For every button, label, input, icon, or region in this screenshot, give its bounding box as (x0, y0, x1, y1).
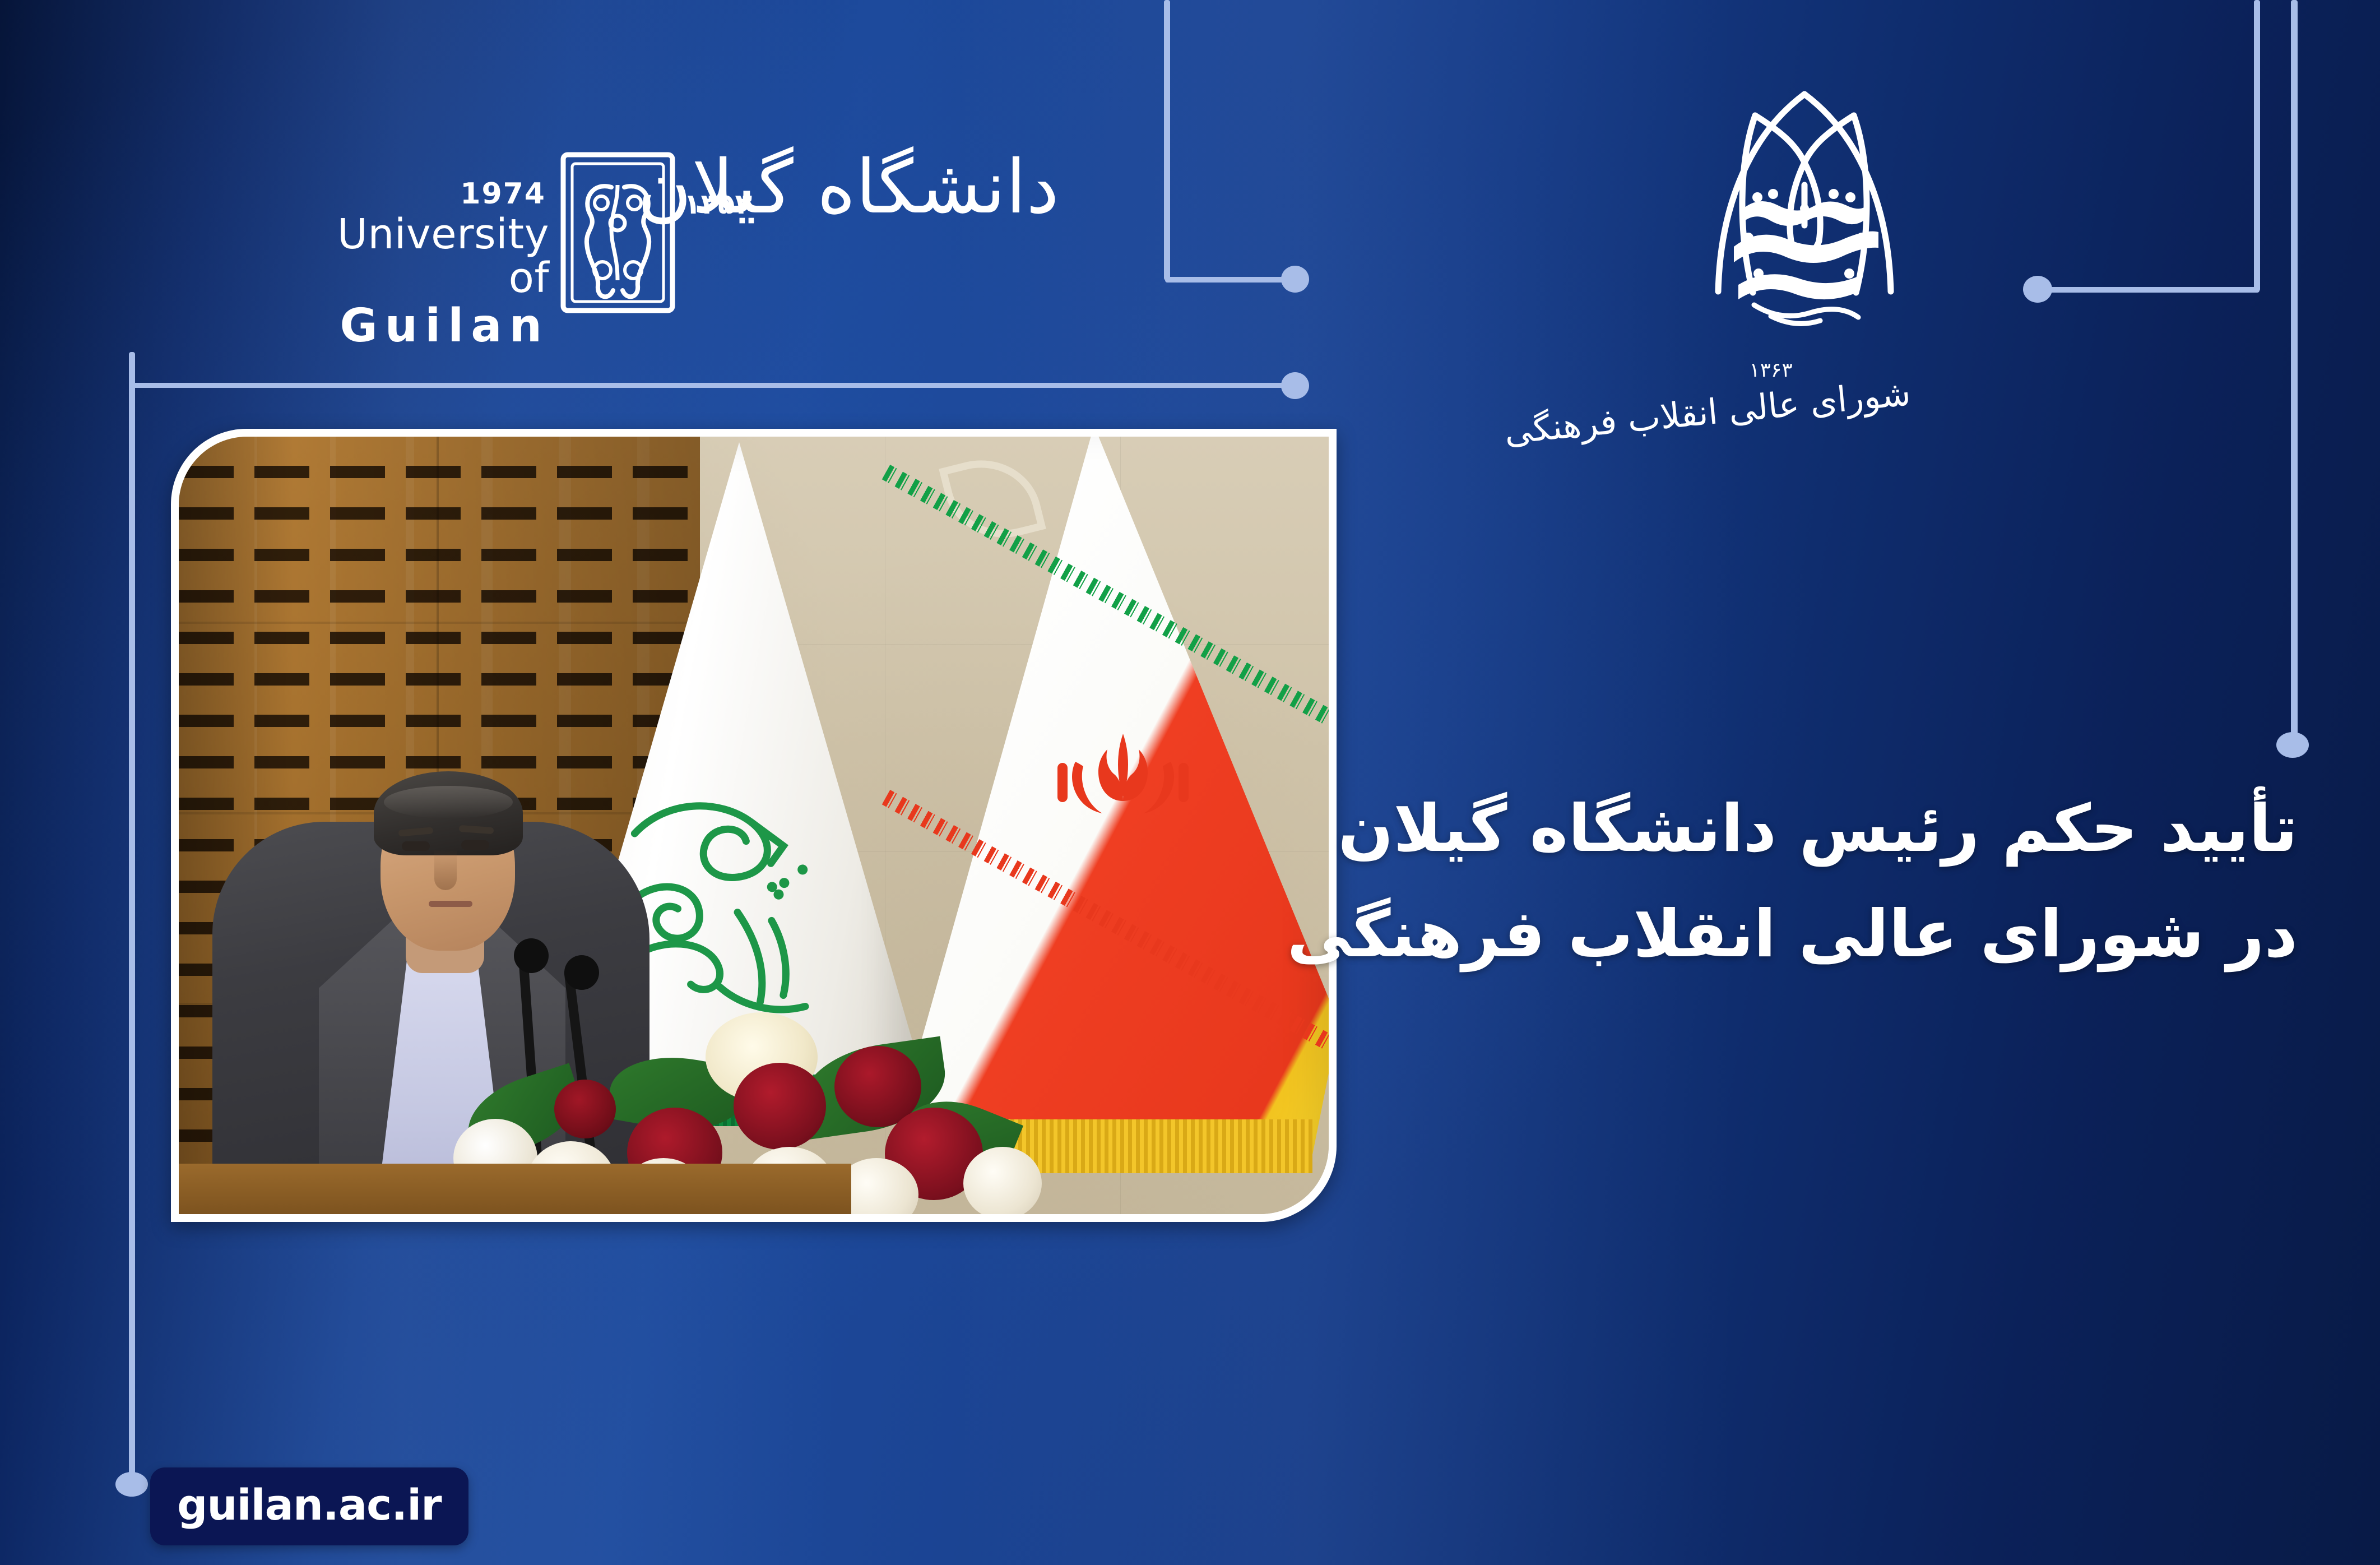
decor-dot-right-mid (2023, 276, 2052, 303)
news-photo (179, 437, 1329, 1214)
decor-hline-upper (1165, 277, 1294, 283)
poster-canvas: 1974 University of Guilan ۱۳۵۳ دانشگاه گ… (0, 0, 2380, 1565)
university-logo-english-text: 1974 University of Guilan (286, 179, 549, 353)
page-title: تأیید حکم رئیس دانشگاه گیلان در شورای عا… (1356, 776, 2298, 987)
news-photo-frame (171, 429, 1337, 1222)
decor-vline-left (129, 352, 135, 1479)
decor-dot-upper-right (1281, 266, 1309, 293)
decor-dot-lower-right (1281, 372, 1309, 399)
decor-hline-right (2035, 287, 2260, 293)
rose-red (554, 1080, 616, 1138)
council-dome-calligraphy-icon (1687, 78, 1922, 370)
rose-white (963, 1147, 1042, 1214)
university-of-guilan-logo: 1974 University of Guilan ۱۳۵۳ دانشگاه گ… (286, 163, 1059, 308)
decor-dot-left-bottom (115, 1472, 148, 1497)
council-name-persian: شورای عالی انقلاب فرهنگی (1630, 372, 1913, 440)
headline-line-2: در شورای عالی انقلاب فرهنگی (1356, 882, 2298, 987)
decor-hline-lower (130, 383, 1295, 388)
microphone-head-1 (514, 938, 549, 973)
podium (179, 1164, 851, 1214)
hair (374, 771, 523, 855)
university-founded-year-latin: 1974 (286, 179, 549, 209)
eye-left (402, 841, 430, 851)
decor-vline-right-long (2291, 0, 2298, 740)
university-name-persian: دانشگاه گیلان (667, 132, 1059, 243)
nose (434, 850, 457, 890)
headline-line-1: تأیید حکم رئیس دانشگاه گیلان (1356, 776, 2298, 882)
decor-vline-right-short (2254, 0, 2260, 291)
decor-dot-right-bottom (2276, 732, 2309, 758)
rose-red (734, 1063, 826, 1150)
eye-right (461, 840, 489, 850)
website-url-badge[interactable]: guilan.ac.ir (150, 1467, 468, 1545)
decor-vline-mid (1164, 0, 1170, 280)
supreme-council-cultural-revolution-logo: ۱۳۶۳ شورای عالی انقلاب فرهنگی (1653, 78, 1945, 471)
mouth (429, 901, 472, 907)
university-name-en-line2: Guilan (286, 300, 549, 353)
iran-emblem-icon (1042, 728, 1204, 857)
university-name-en-line1: University of (286, 213, 549, 300)
